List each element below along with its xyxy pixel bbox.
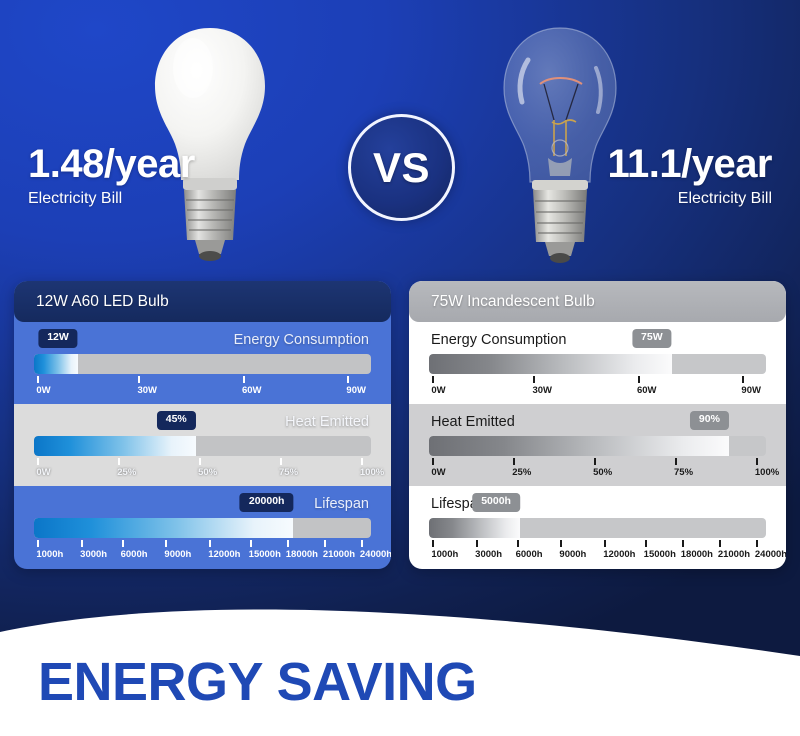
axis-tick-label: 30W xyxy=(532,385,552,396)
axis-tick xyxy=(533,376,535,383)
axis-tick-label: 100% xyxy=(360,467,384,478)
led-metric-list: Energy Consumption12W0W30W60W90WHeat Emi… xyxy=(14,322,391,568)
axis-tick xyxy=(682,540,684,547)
metric-tick-marks xyxy=(34,458,371,466)
axis-tick xyxy=(756,540,758,547)
hero-comparison: 1.48/year Electricity Bill 11.1/year Ele… xyxy=(0,0,800,272)
axis-tick xyxy=(719,540,721,547)
axis-tick-label: 3000h xyxy=(475,549,502,560)
axis-tick-label: 60W xyxy=(242,385,262,396)
metric-tick-labels: 1000h3000h6000h9000h12000h15000h18000h21… xyxy=(429,549,766,563)
led-price-caption: Electricity Bill xyxy=(28,190,195,208)
metric-row: Lifespan5000h1000h3000h6000h9000h12000h1… xyxy=(409,486,786,568)
metric-tick-marks xyxy=(429,540,766,548)
led-bulb-icon xyxy=(145,16,275,266)
axis-tick xyxy=(138,376,140,383)
axis-tick-label: 21000h xyxy=(323,549,355,560)
axis-tick-label: 3000h xyxy=(80,549,107,560)
metric-row: Energy Consumption12W0W30W60W90W xyxy=(14,322,391,404)
metric-label: Lifespan xyxy=(314,496,369,512)
axis-tick-label: 18000h xyxy=(286,549,318,560)
page-title: ENERGY SAVING xyxy=(38,655,477,709)
axis-tick xyxy=(594,458,596,465)
metric-tick-labels: 1000h3000h6000h9000h12000h15000h18000h21… xyxy=(34,549,371,563)
axis-tick xyxy=(165,540,167,547)
axis-tick-label: 0W xyxy=(36,467,50,478)
metric-value-callout: 5000h xyxy=(472,493,520,512)
incandescent-panel-header: 75W Incandescent Bulb xyxy=(409,281,786,322)
metric-tick-labels: 0W30W60W90W xyxy=(429,385,766,399)
axis-tick xyxy=(361,540,363,547)
axis-tick xyxy=(122,540,124,547)
metric-bar xyxy=(429,436,766,456)
axis-tick-label: 25% xyxy=(117,467,136,478)
metric-tick-labels: 0W25%50%75%100% xyxy=(429,467,766,481)
axis-tick-label: 15000h xyxy=(249,549,281,560)
metric-row: Heat Emitted45%0W25%50%75%100% xyxy=(14,404,391,486)
metric-tick-labels: 0W25%50%75%100% xyxy=(34,467,371,481)
metric-row: Lifespan20000h1000h3000h6000h9000h12000h… xyxy=(14,486,391,568)
metric-bar xyxy=(34,436,371,456)
axis-tick-label: 24000h xyxy=(755,549,786,560)
axis-tick xyxy=(347,376,349,383)
axis-tick-label: 21000h xyxy=(718,549,750,560)
metric-value-callout: 12W xyxy=(38,329,78,348)
incandescent-price-block: 11.1/year Electricity Bill xyxy=(607,143,772,208)
metric-bar xyxy=(34,354,371,374)
axis-tick-label: 24000h xyxy=(360,549,391,560)
axis-tick xyxy=(432,458,434,465)
incandescent-metric-list: Energy Consumption75W0W30W60W90WHeat Emi… xyxy=(409,322,786,568)
axis-tick-label: 60W xyxy=(637,385,657,396)
metric-value-callout: 20000h xyxy=(240,493,294,512)
axis-tick-label: 0W xyxy=(36,385,50,396)
axis-tick-label: 1000h xyxy=(431,549,458,560)
axis-tick xyxy=(756,458,758,465)
metric-label: Energy Consumption xyxy=(431,332,566,348)
metric-bar-fill xyxy=(429,354,672,374)
metric-label: Energy Consumption xyxy=(234,332,369,348)
axis-tick xyxy=(432,540,434,547)
vs-label: VS xyxy=(373,144,430,192)
metric-bar-fill xyxy=(429,518,520,538)
axis-tick xyxy=(280,458,282,465)
led-panel-title: 12W A60 LED Bulb xyxy=(36,293,169,311)
metric-bar-fill xyxy=(34,436,196,456)
axis-tick-label: 25% xyxy=(512,467,531,478)
axis-tick xyxy=(604,540,606,547)
metric-label: Heat Emitted xyxy=(431,414,515,430)
axis-tick-label: 50% xyxy=(593,467,612,478)
metric-value-callout: 75W xyxy=(632,329,672,348)
metric-tick-marks xyxy=(34,376,371,384)
vs-badge: VS xyxy=(348,114,455,221)
axis-tick xyxy=(243,376,245,383)
metric-tick-marks xyxy=(34,540,371,548)
axis-tick-label: 50% xyxy=(198,467,217,478)
axis-tick xyxy=(37,540,39,547)
metric-tick-marks xyxy=(429,376,766,384)
axis-tick-label: 0W xyxy=(431,385,445,396)
axis-tick-label: 9000h xyxy=(559,549,586,560)
axis-tick xyxy=(432,376,434,383)
metric-bar-fill xyxy=(429,436,729,456)
axis-tick-label: 90W xyxy=(741,385,761,396)
axis-tick xyxy=(37,376,39,383)
axis-tick-label: 9000h xyxy=(164,549,191,560)
axis-tick-label: 18000h xyxy=(681,549,713,560)
led-price-value: 1.48/year xyxy=(28,143,195,185)
axis-tick-label: 1000h xyxy=(36,549,63,560)
metric-label: Heat Emitted xyxy=(285,414,369,430)
axis-tick xyxy=(81,540,83,547)
axis-tick xyxy=(675,458,677,465)
led-comparison-panel: 12W A60 LED Bulb Energy Consumption12W0W… xyxy=(14,281,391,569)
axis-tick xyxy=(517,540,519,547)
metric-bar-fill xyxy=(34,354,78,374)
metric-bar-fill xyxy=(34,518,293,538)
metric-row: Energy Consumption75W0W30W60W90W xyxy=(409,322,786,404)
metric-tick-marks xyxy=(429,458,766,466)
metric-tick-labels: 0W30W60W90W xyxy=(34,385,371,399)
incandescent-panel-title: 75W Incandescent Bulb xyxy=(431,293,595,311)
axis-tick xyxy=(250,540,252,547)
metric-value-callout: 90% xyxy=(690,411,729,430)
axis-tick-label: 30W xyxy=(137,385,157,396)
axis-tick xyxy=(118,458,120,465)
axis-tick-label: 90W xyxy=(346,385,366,396)
metric-row: Heat Emitted90%0W25%50%75%100% xyxy=(409,404,786,486)
metric-value-callout: 45% xyxy=(157,411,196,430)
axis-tick-label: 12000h xyxy=(208,549,240,560)
axis-tick xyxy=(287,540,289,547)
metric-header: Energy Consumption12W xyxy=(34,329,371,354)
metric-header: Heat Emitted45% xyxy=(34,411,371,436)
axis-tick-label: 100% xyxy=(755,467,779,478)
axis-tick xyxy=(199,458,201,465)
axis-tick xyxy=(560,540,562,547)
metric-header: Lifespan20000h xyxy=(34,493,371,518)
metric-header: Lifespan5000h xyxy=(429,493,766,518)
axis-tick xyxy=(645,540,647,547)
axis-tick xyxy=(638,376,640,383)
metric-bar xyxy=(34,518,371,538)
axis-tick xyxy=(476,540,478,547)
led-price-block: 1.48/year Electricity Bill xyxy=(28,143,195,208)
metric-bar xyxy=(429,518,766,538)
metric-header: Energy Consumption75W xyxy=(429,329,766,354)
led-panel-header: 12W A60 LED Bulb xyxy=(14,281,391,322)
axis-tick xyxy=(209,540,211,547)
axis-tick-label: 0W xyxy=(431,467,445,478)
axis-tick-label: 12000h xyxy=(603,549,635,560)
axis-tick xyxy=(513,458,515,465)
incandescent-bulb-icon xyxy=(492,16,628,266)
axis-tick xyxy=(37,458,39,465)
axis-tick-label: 75% xyxy=(674,467,693,478)
axis-tick xyxy=(742,376,744,383)
incandescent-comparison-panel: 75W Incandescent Bulb Energy Consumption… xyxy=(409,281,786,569)
metric-bar xyxy=(429,354,766,374)
metric-header: Heat Emitted90% xyxy=(429,411,766,436)
axis-tick-label: 6000h xyxy=(516,549,543,560)
axis-tick-label: 15000h xyxy=(644,549,676,560)
incandescent-price-value: 11.1/year xyxy=(607,143,772,185)
axis-tick xyxy=(324,540,326,547)
axis-tick-label: 6000h xyxy=(121,549,148,560)
axis-tick xyxy=(361,458,363,465)
axis-tick-label: 75% xyxy=(279,467,298,478)
incandescent-price-caption: Electricity Bill xyxy=(607,190,772,208)
